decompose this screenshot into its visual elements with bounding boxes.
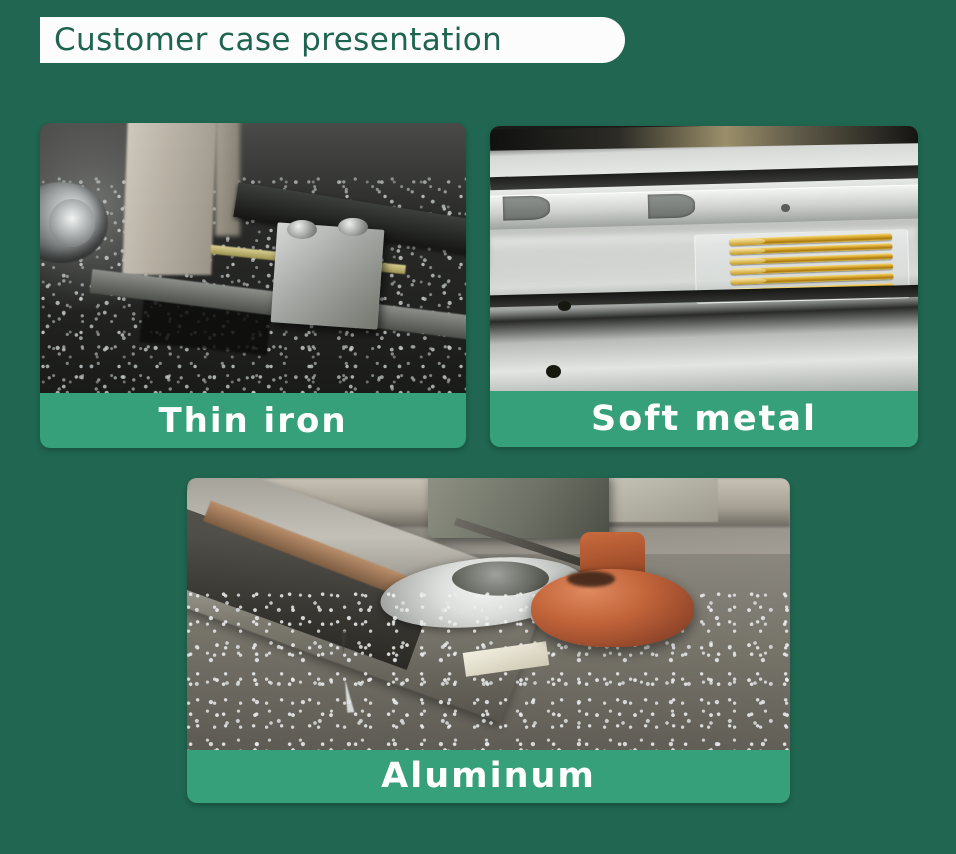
debris-speck	[546, 365, 561, 378]
case-photo-aluminum	[187, 478, 790, 750]
case-label-text: Aluminum	[381, 759, 596, 794]
pillar-edge	[215, 123, 241, 236]
page-title-pill: Customer case presentation	[40, 17, 625, 63]
case-label-text: Soft metal	[591, 402, 817, 437]
case-card-aluminum[interactable]: Aluminum	[187, 478, 790, 803]
case-photo-soft-metal	[490, 126, 918, 391]
photo-scene-workshop	[40, 123, 466, 393]
profile-hole	[781, 204, 790, 212]
case-card-soft-metal[interactable]: Soft metal	[490, 126, 918, 447]
debris-speck	[558, 301, 571, 312]
profile-slot	[648, 193, 696, 218]
concrete-pillar	[122, 123, 217, 274]
photo-scene-aluminium-profile	[490, 126, 918, 391]
clamp-bolt	[338, 218, 368, 237]
drill-bit	[730, 263, 893, 275]
workpiece-clamp	[531, 532, 694, 646]
case-label-bar-soft-metal: Soft metal	[490, 391, 918, 447]
case-label-bar-thin-iron: Thin iron	[40, 393, 466, 448]
profile-slot	[503, 196, 551, 221]
drill-bit	[730, 273, 893, 285]
case-card-thin-iron[interactable]: Thin iron	[40, 123, 466, 448]
page-title: Customer case presentation	[54, 25, 502, 56]
photo-scene-saw-cutting	[187, 478, 790, 750]
case-label-text: Thin iron	[158, 404, 347, 438]
clamp-bolt	[287, 220, 317, 239]
machine-head	[428, 478, 609, 538]
profile-rail	[490, 184, 918, 230]
steel-workpiece	[271, 222, 384, 329]
background-shadow	[490, 126, 918, 151]
lathe-chuck-face	[49, 199, 96, 248]
case-label-bar-aluminum: Aluminum	[187, 750, 790, 803]
case-photo-thin-iron	[40, 123, 466, 393]
